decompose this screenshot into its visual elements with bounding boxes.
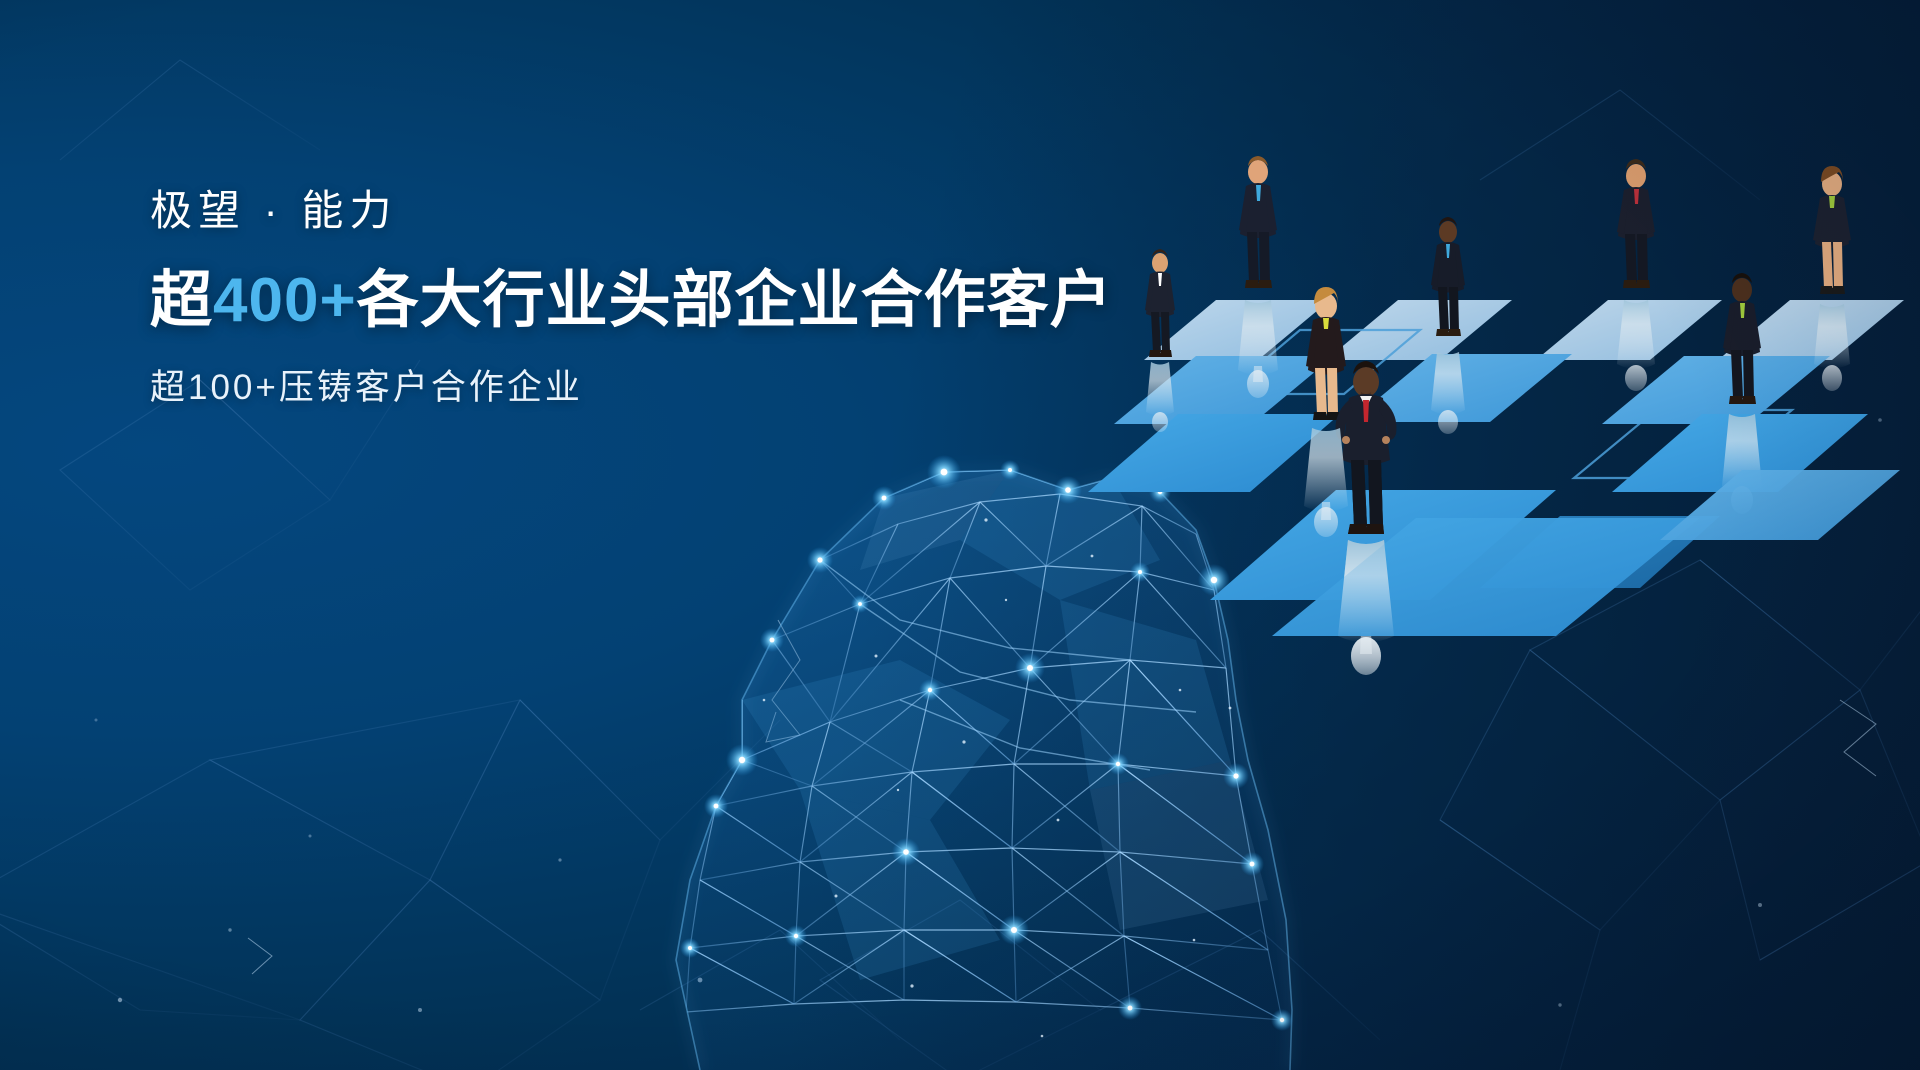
handshake-network-mesh xyxy=(0,0,1920,1070)
platform-outline xyxy=(1224,330,1792,478)
hero-banner: 极望 · 能力 超400+各大行业头部企业合作客户 超100+压铸客户合作企业 xyxy=(0,0,1920,1070)
person-figure xyxy=(1723,273,1761,404)
platform-rails xyxy=(1222,352,1840,466)
background-polygon-web xyxy=(0,0,1920,1070)
person-figure xyxy=(1306,287,1346,420)
background-vignette xyxy=(0,0,1920,1070)
person-figure xyxy=(1617,159,1655,288)
hero-text-block: 极望 · 能力 超400+各大行业头部企业合作客户 超100+压铸客户合作企业 xyxy=(150,185,1210,410)
background-right-wash xyxy=(0,0,1920,1070)
figure-reflections xyxy=(1146,300,1850,675)
person-figure-leader xyxy=(1336,361,1397,534)
platform-group-front xyxy=(1210,490,1720,600)
business-people-on-platforms xyxy=(0,0,1920,1070)
headline-suffix: 各大行业头部企业合作客户 xyxy=(357,266,1113,335)
hero-eyebrow: 极望 · 能力 xyxy=(150,185,1210,238)
headline-prefix: 超 xyxy=(150,266,213,335)
platform-group-foreground xyxy=(1272,470,1900,636)
headline-accent-number: 400+ xyxy=(213,266,357,335)
platform-group-back xyxy=(1144,300,1904,360)
person-figure xyxy=(1431,217,1465,336)
hero-subheadline: 超100+压铸客户合作企业 xyxy=(150,365,1210,411)
person-figure xyxy=(1236,156,1280,296)
person-figure xyxy=(1813,166,1851,294)
hero-headline: 超400+各大行业头部企业合作客户 xyxy=(150,266,1210,335)
person-figure-leader-front xyxy=(1348,460,1384,534)
